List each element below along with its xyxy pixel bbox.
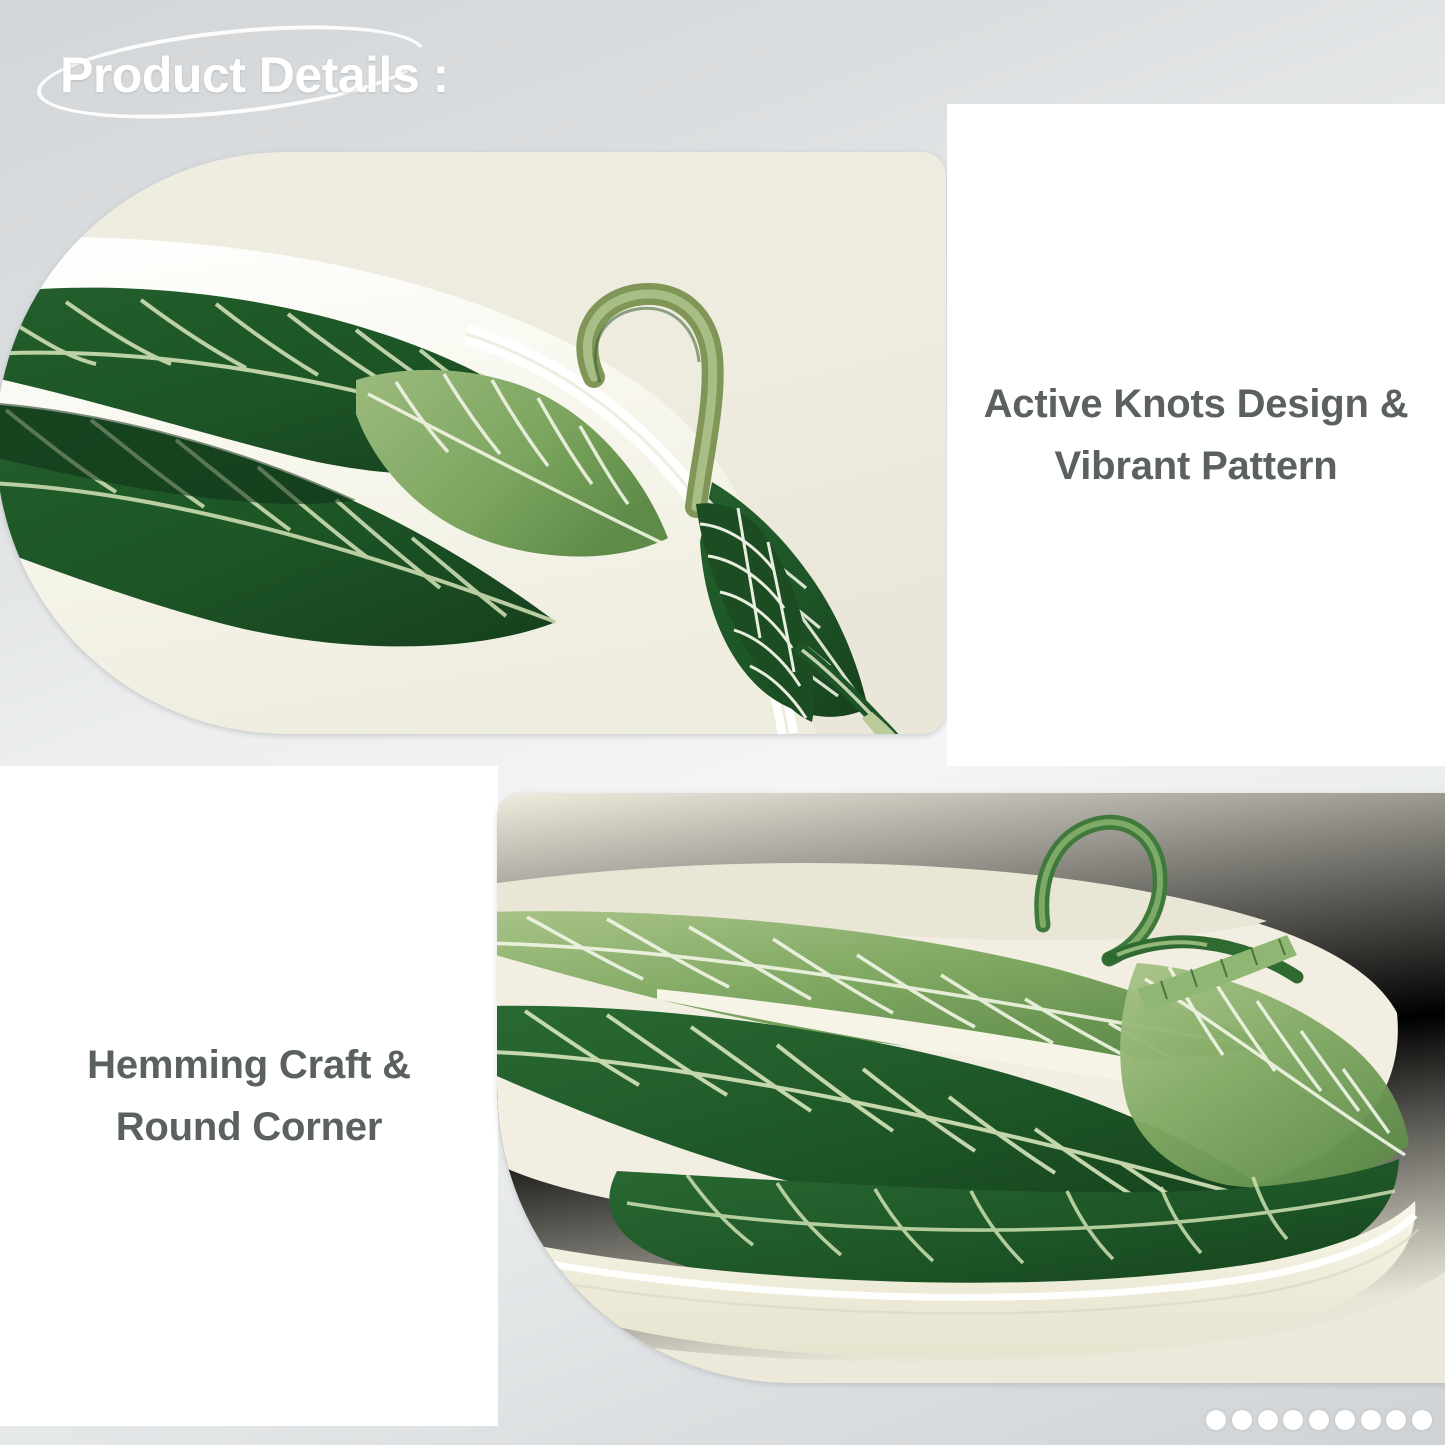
pagination-dot[interactable]	[1386, 1410, 1406, 1430]
page-title-group: Product Details :	[28, 24, 448, 104]
caption-top-line-2: Vibrant Pattern	[984, 435, 1409, 497]
pagination-dot[interactable]	[1283, 1410, 1303, 1430]
caption-card-top-right: Active Knots Design & Vibrant Pattern	[947, 104, 1445, 766]
product-photo-round-corner-detail	[497, 793, 1445, 1383]
product-photo-knot-detail	[0, 152, 946, 734]
caption-text-top: Active Knots Design & Vibrant Pattern	[962, 373, 1431, 497]
caption-bottom-line-2: Round Corner	[87, 1096, 411, 1158]
pagination-dot[interactable]	[1412, 1410, 1432, 1430]
pagination-dot[interactable]	[1232, 1410, 1252, 1430]
caption-card-bottom-left: Hemming Craft & Round Corner	[0, 766, 498, 1426]
pagination-dots[interactable]	[1206, 1405, 1432, 1435]
page-header: Product Details :	[0, 0, 1445, 112]
product-details-page: Product Details :	[0, 0, 1445, 1445]
caption-top-line-1: Active Knots Design &	[984, 373, 1409, 435]
pagination-dot[interactable]	[1258, 1410, 1278, 1430]
knot-photo-artwork	[0, 152, 946, 734]
pagination-dot[interactable]	[1206, 1410, 1226, 1430]
leaf-pattern-illustration-top	[0, 152, 946, 734]
caption-text-bottom: Hemming Craft & Round Corner	[65, 1034, 433, 1158]
caption-bottom-line-1: Hemming Craft &	[87, 1034, 411, 1096]
pagination-dot[interactable]	[1335, 1410, 1355, 1430]
pagination-dot[interactable]	[1309, 1410, 1329, 1430]
pagination-dot[interactable]	[1361, 1410, 1381, 1430]
leaf-pattern-illustration-bottom	[497, 793, 1445, 1383]
page-title: Product Details :	[60, 46, 449, 104]
round-corner-photo-artwork	[497, 793, 1445, 1383]
